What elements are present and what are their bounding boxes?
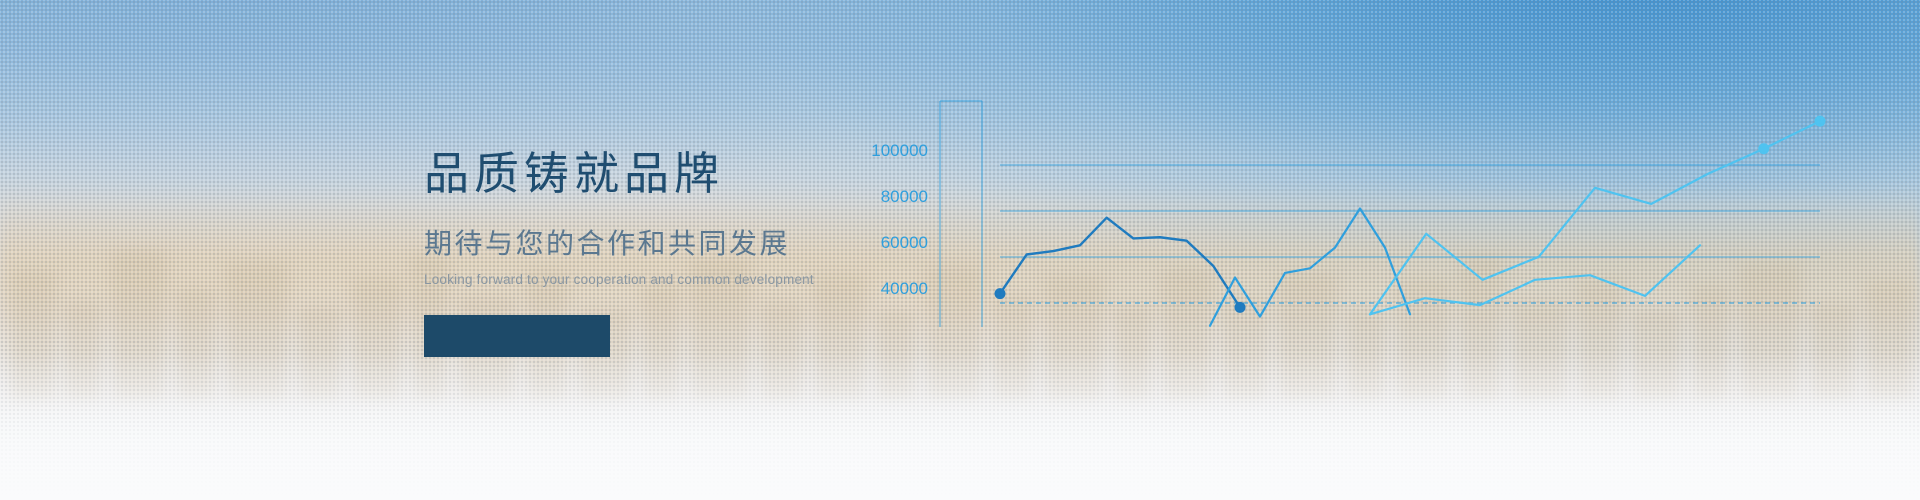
subtitle-chinese: 期待与您的合作和共同发展: [424, 222, 944, 262]
line-chart: 100000800006000040000: [940, 95, 1840, 405]
chart-point-marker: [995, 288, 1006, 299]
page-title: 品质铸就品牌: [424, 150, 944, 198]
banner-copy: 品质铸就品牌 期待与您的合作和共同发展 Looking forward to y…: [424, 150, 944, 357]
subtitle-english: Looking forward to your cooperation and …: [424, 272, 944, 287]
chart-svg: 100000800006000040000: [940, 95, 1840, 405]
chart-point-marker: [1758, 143, 1769, 154]
chart-line-series-1: [1000, 218, 1240, 308]
hero-banner: 品质铸就品牌 期待与您的合作和共同发展 Looking forward to y…: [0, 0, 1920, 500]
chart-line-series-3: [1370, 121, 1820, 314]
chart-point-marker: [1815, 116, 1826, 127]
chart-point-marker: [1235, 302, 1246, 313]
cta-button[interactable]: [424, 315, 610, 357]
chart-line-series-4: [1370, 245, 1700, 314]
